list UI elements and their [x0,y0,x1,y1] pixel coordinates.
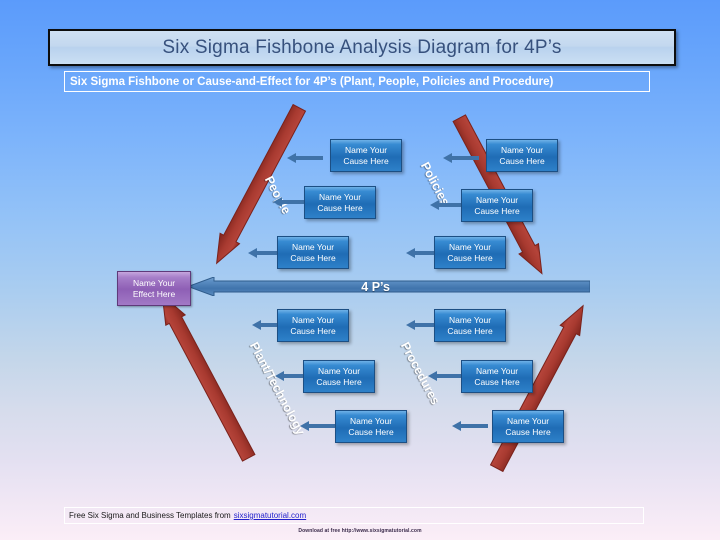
page-subtitle: Six Sigma Fishbone or Cause-and-Effect f… [64,71,650,92]
bone-plant-technology-arrow [153,290,259,463]
cause-box-policies-0[interactable]: Name Your Cause Here [486,139,558,172]
cause-box-plant-technology-1[interactable]: Name Your Cause Here [303,360,375,393]
cause-box-plant-technology-2[interactable]: Name Your Cause Here [335,410,407,443]
bone-plant-technology [153,290,259,463]
cause-box-people-1[interactable]: Name Your Cause Here [304,186,376,219]
cause-box-procedures-0[interactable]: Name Your Cause Here [434,309,506,342]
cause-line-1: Name Your [292,242,334,252]
micro-credit-text: Download at free http://www.sixsigmatuto… [0,528,720,534]
cause-line-2: Cause Here [447,253,492,263]
footer-box: Free Six Sigma and Business Templates fr… [64,507,644,524]
footer-link[interactable]: sixsigmatutorial.com [234,511,306,520]
cause-line-2: Cause Here [316,377,361,387]
cause-box-procedures-1[interactable]: Name Your Cause Here [461,360,533,393]
connector-procedures-1 [428,371,464,381]
cause-line-2: Cause Here [290,253,335,263]
cause-line-1: Name Your [292,315,334,325]
cause-line-2: Cause Here [343,156,388,166]
cause-box-people-2[interactable]: Name Your Cause Here [277,236,349,269]
page-title-text: Six Sigma Fishbone Analysis Diagram for … [162,37,561,59]
cause-box-people-0[interactable]: Name Your Cause Here [330,139,402,172]
cause-line-2: Cause Here [290,326,335,336]
cause-box-policies-1[interactable]: Name Your Cause Here [461,189,533,222]
cause-line-1: Name Your [350,416,392,426]
cause-line-1: Name Your [318,366,360,376]
cause-line-1: Name Your [507,416,549,426]
cause-box-procedures-2[interactable]: Name Your Cause Here [492,410,564,443]
cause-line-2: Cause Here [499,156,544,166]
cause-line-1: Name Your [449,315,491,325]
connector-people-0 [287,153,323,163]
effect-line-1: Name Your [133,278,175,288]
cause-line-2: Cause Here [447,326,492,336]
cause-line-1: Name Your [476,195,518,205]
cause-line-2: Cause Here [317,203,362,213]
cause-line-1: Name Your [345,145,387,155]
connector-procedures-2 [452,421,488,431]
spine-arrow [188,277,590,296]
cause-line-1: Name Your [501,145,543,155]
page-subtitle-text: Six Sigma Fishbone or Cause-and-Effect f… [70,76,553,88]
footer-text: Free Six Sigma and Business Templates fr… [69,511,231,520]
cause-line-2: Cause Here [474,206,519,216]
effect-line-2: Effect Here [133,289,175,299]
page-title: Six Sigma Fishbone Analysis Diagram for … [48,29,676,66]
cause-line-2: Cause Here [474,377,519,387]
cause-line-1: Name Your [449,242,491,252]
cause-line-2: Cause Here [505,427,550,437]
fishbone-diagram-canvas: Six Sigma Fishbone Analysis Diagram for … [0,0,720,540]
cause-box-policies-2[interactable]: Name Your Cause Here [434,236,506,269]
cause-line-1: Name Your [476,366,518,376]
cause-line-2: Cause Here [348,427,393,437]
cause-line-1: Name Your [319,192,361,202]
bone-label-plant-technology: Plant/Technology [247,340,308,438]
cause-box-plant-technology-0[interactable]: Name Your Cause Here [277,309,349,342]
connector-plant-technology-2 [300,421,336,431]
connector-policies-0 [443,153,479,163]
effect-box[interactable]: Name Your Effect Here [117,271,191,306]
